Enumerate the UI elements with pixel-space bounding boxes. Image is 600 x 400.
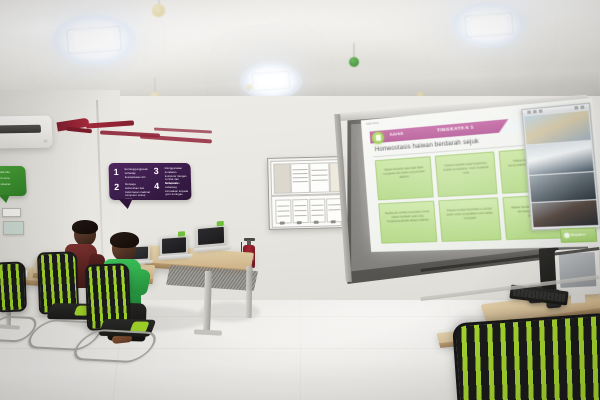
purple-poster-num-1: 1 <box>114 167 119 177</box>
paper-line <box>329 209 341 210</box>
monitor-stand <box>571 295 585 304</box>
paper-line <box>293 173 307 174</box>
window-button-icon <box>539 110 543 113</box>
chair-student-front[interactable] <box>85 263 127 326</box>
purple-poster-num-2: 2 <box>114 182 119 192</box>
ac-led-icon <box>43 140 47 143</box>
light-core <box>73 30 114 50</box>
slide-cell-text: Haiwan berdarah sejuk bergantung kepada … <box>442 161 491 176</box>
slide-cell-text: Reptilia dan amfibia merupakan contoh ha… <box>385 210 431 223</box>
light-core <box>257 75 286 88</box>
notice-board-row-top <box>270 159 341 196</box>
paper-line <box>312 215 324 216</box>
notice-board-row-bottom <box>271 194 342 228</box>
notice-board <box>267 156 345 230</box>
gallery-photo <box>524 111 591 145</box>
recessed-light-2 <box>240 62 302 100</box>
notice-paper <box>292 199 309 223</box>
paper-line <box>312 210 324 211</box>
gallery-photo <box>532 200 599 227</box>
paper-line <box>295 215 307 216</box>
projected-slide: Slide Show SAINS TINGKATAN 1 Homeostasis… <box>361 98 600 252</box>
paper-line <box>277 205 289 206</box>
gallery-photo <box>529 172 596 202</box>
slide-cell: Haiwan berdarah sejuk bergantung kepada … <box>435 151 498 197</box>
purple-poster-text-4: Melaporkan sebarang kerosakan kepada gur… <box>165 182 189 197</box>
laptop-screen <box>198 227 223 246</box>
slide-cell: Reptilia dan amfibia merupakan contoh ha… <box>378 201 437 244</box>
student-arm <box>128 267 151 296</box>
notice-paper <box>290 163 310 193</box>
green-speech-bubble-poster: Sekolah kita bersih ceria dan selamat <box>0 166 27 196</box>
wall-minicard-2 <box>3 221 24 235</box>
slide-cell: Haiwan ini akan berpindah ke tempat tedu… <box>438 197 501 242</box>
laptop-2[interactable] <box>196 225 226 250</box>
ac-vent <box>0 125 41 134</box>
purple-speech-bubble-poster: 1 Bertanggungjawab terhadap keselamatan … <box>108 163 191 200</box>
badge-icon <box>564 232 570 238</box>
notice-paper <box>309 162 330 192</box>
hanging-ball-yellow-4 <box>246 84 252 90</box>
laptop-green-tag <box>217 221 224 227</box>
bubble-tail <box>118 199 132 209</box>
laptop-1[interactable] <box>160 235 188 257</box>
window-button-icon <box>533 110 537 113</box>
monitor-bezel <box>554 248 600 296</box>
slide-logo-icon <box>372 131 385 144</box>
paper-clip <box>280 222 285 225</box>
ball-thread <box>158 0 159 4</box>
window-button-icon <box>574 106 578 109</box>
photo-gallery-window[interactable] <box>521 103 600 231</box>
chair-student-back[interactable] <box>37 251 75 310</box>
window-button-icon <box>527 111 531 114</box>
paper-line <box>293 169 307 170</box>
slide-footer-badge-label: Rujukan <box>571 232 586 237</box>
paper-line <box>294 205 306 206</box>
hanging-ball-green-1 <box>349 57 359 67</box>
gallery-photo <box>527 141 594 175</box>
paper-line <box>312 169 327 170</box>
paper-line <box>293 181 307 182</box>
paper-line <box>328 204 340 205</box>
recessed-light-1 <box>52 14 136 66</box>
classroom-scene: Sekolah kita bersih ceria dan selamat 1 … <box>0 0 600 400</box>
purple-poster-num-3: 3 <box>154 166 159 176</box>
notice-paper <box>273 163 291 193</box>
window-button-icon <box>580 106 584 109</box>
desk-leg <box>246 266 253 318</box>
laptop-green-tag <box>178 231 185 237</box>
laptop-screen <box>162 237 185 254</box>
paper-clip <box>314 221 319 224</box>
purple-poster-num-4: 4 <box>154 181 159 191</box>
hanging-ball-yellow-1 <box>152 4 165 17</box>
paper-line <box>293 177 307 178</box>
slide-app-label: Slide Show <box>366 122 379 126</box>
chair-empty-left[interactable] <box>0 262 23 309</box>
notice-paper <box>309 199 326 223</box>
green-poster-text: Sekolah kita <box>0 171 23 175</box>
slide-cell-text: Haiwan berdarah sejuk tidak dapat mengaw… <box>381 166 427 180</box>
student-hair <box>110 232 139 248</box>
wall-minicard-1 <box>2 208 21 217</box>
paper-clip <box>331 220 336 223</box>
bubble-tail <box>0 195 10 203</box>
student-hair <box>72 220 98 234</box>
slide-cell: Haiwan berdarah sejuk tidak dapat mengaw… <box>375 156 434 200</box>
ball-thread <box>354 43 355 57</box>
chair-foreground[interactable] <box>455 318 600 400</box>
paper-clip <box>297 221 302 224</box>
paper-line <box>312 174 327 175</box>
ball-thread <box>155 78 156 92</box>
slide-footer-badge: Rujukan <box>560 227 598 243</box>
recessed-light-3 <box>452 2 526 48</box>
air-conditioner <box>0 116 53 149</box>
green-poster-text-3: dan selamat <box>0 183 23 187</box>
green-poster-text-2: bersih ceria <box>0 177 23 181</box>
slide-cell-text: Haiwan ini akan berpindah ke tempat tedu… <box>445 207 494 221</box>
paper-line <box>295 210 307 211</box>
paper-line <box>311 205 323 206</box>
paper-line <box>278 210 290 211</box>
chair-backrest <box>0 261 27 312</box>
purple-poster-text-1: Bertanggungjawab terhadap keselamatan di… <box>125 168 150 179</box>
paper-line <box>278 215 290 216</box>
light-core <box>471 16 508 33</box>
notice-paper <box>275 199 292 223</box>
paper-line <box>312 179 327 180</box>
chair-backrest <box>452 313 600 400</box>
